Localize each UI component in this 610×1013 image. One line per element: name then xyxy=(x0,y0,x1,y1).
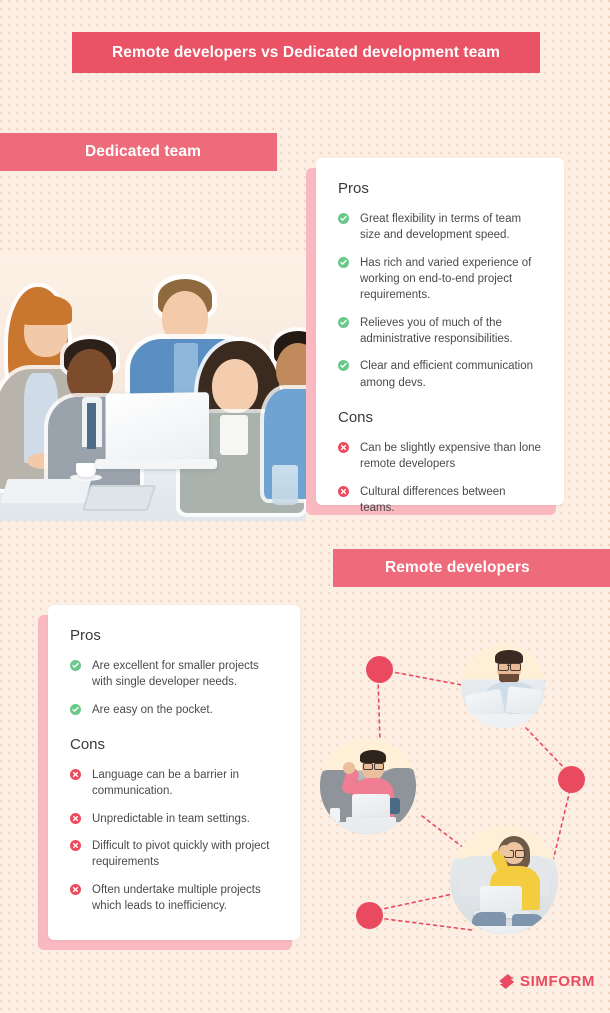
list-item: Can be slightly expensive than lone remo… xyxy=(338,440,542,473)
x-circle-icon xyxy=(70,769,81,780)
list-item: Cultural differences between teams. xyxy=(338,484,542,517)
pros-heading: Pros xyxy=(338,180,542,197)
list-item: Great flexibility in terms of team size … xyxy=(338,211,542,244)
dedicated-team-photo xyxy=(0,255,306,521)
section-banner-remote-developers: Remote developers xyxy=(333,549,610,587)
list-item: Are excellent for smaller projects with … xyxy=(70,658,278,691)
x-circle-icon xyxy=(70,813,81,824)
remote-developers-card: Pros Are excellent for smaller projects … xyxy=(38,605,300,950)
remote-developers-network-diagram xyxy=(330,630,610,950)
page-title-banner: Remote developers vs Dedicated developme… xyxy=(72,32,540,73)
section-banner-dedicated-team: Dedicated team xyxy=(0,133,277,171)
simform-logo: SIMFORM xyxy=(498,973,595,990)
check-circle-icon xyxy=(338,317,349,328)
photo-papers xyxy=(1,479,92,503)
photo-laptop-base xyxy=(95,459,217,469)
list-item: Has rich and varied experience of workin… xyxy=(338,255,542,304)
list-item-text: Unpredictable in team settings. xyxy=(92,813,250,825)
list-item-text: Difficult to pivot quickly with project … xyxy=(92,840,269,868)
list-item-text: Has rich and varied experience of workin… xyxy=(360,257,531,302)
list-item: Language can be a barrier in communicati… xyxy=(70,767,278,800)
check-circle-icon xyxy=(70,704,81,715)
photo-tablet xyxy=(82,485,156,511)
list-item-text: Relieves you of much of the administrati… xyxy=(360,317,513,345)
avatar-remote-developer-woman-yellow xyxy=(450,826,558,934)
list-item-text: Can be slightly expensive than lone remo… xyxy=(360,442,541,470)
network-node-dot xyxy=(356,902,383,929)
page-title: Remote developers vs Dedicated developme… xyxy=(112,44,500,62)
list-item-text: Are excellent for smaller projects with … xyxy=(92,660,259,688)
check-circle-icon xyxy=(70,660,81,671)
remote-pros-list: Are excellent for smaller projects with … xyxy=(70,658,278,718)
remote-cons-list: Language can be a barrier in communicati… xyxy=(70,767,278,914)
list-item-text: Are easy on the pocket. xyxy=(92,704,213,716)
x-circle-icon xyxy=(338,486,349,497)
dedicated-team-card: Pros Great flexibility in terms of team … xyxy=(306,158,564,515)
list-item: Clear and efficient communication among … xyxy=(338,358,542,391)
network-link xyxy=(378,678,380,742)
cons-heading: Cons xyxy=(70,736,278,753)
photo-laptop-screen xyxy=(106,392,209,462)
avatar-remote-developer-woman-pink xyxy=(320,738,416,834)
x-circle-icon xyxy=(338,442,349,453)
x-circle-icon xyxy=(70,840,81,851)
list-item: Are easy on the pocket. xyxy=(70,702,278,718)
section-banner-label: Dedicated team xyxy=(85,143,201,161)
dedicated-pros-list: Great flexibility in terms of team size … xyxy=(338,211,542,391)
check-circle-icon xyxy=(338,360,349,371)
list-item-text: Cultural differences between teams. xyxy=(360,486,506,514)
network-node-dot xyxy=(366,656,393,683)
cons-heading: Cons xyxy=(338,409,542,426)
list-item-text: Great flexibility in terms of team size … xyxy=(360,213,521,241)
network-link xyxy=(526,728,568,772)
x-circle-icon xyxy=(70,884,81,895)
avatar-remote-developer-man xyxy=(461,644,545,728)
list-item-text: Language can be a barrier in communicati… xyxy=(92,769,239,797)
list-item: Difficult to pivot quickly with project … xyxy=(70,838,278,871)
list-item: Often undertake multiple projects which … xyxy=(70,882,278,915)
photo-coffee-cup xyxy=(76,463,96,477)
network-node-dot xyxy=(558,766,585,793)
infographic-page: Remote developers vs Dedicated developme… xyxy=(0,0,610,1013)
photo-water-glass xyxy=(272,465,298,505)
section-banner-label: Remote developers xyxy=(385,559,530,577)
check-circle-icon xyxy=(338,257,349,268)
list-item: Unpredictable in team settings. xyxy=(70,811,278,827)
list-item: Relieves you of much of the administrati… xyxy=(338,315,542,348)
list-item-text: Often undertake multiple projects which … xyxy=(92,884,261,912)
network-link xyxy=(382,670,462,685)
list-item-text: Clear and efficient communication among … xyxy=(360,360,533,388)
check-circle-icon xyxy=(338,213,349,224)
simform-arrow-mark-icon xyxy=(498,973,515,990)
pros-heading: Pros xyxy=(70,627,278,644)
dedicated-cons-list: Can be slightly expensive than lone remo… xyxy=(338,440,542,516)
simform-logo-text: SIMFORM xyxy=(520,973,595,990)
